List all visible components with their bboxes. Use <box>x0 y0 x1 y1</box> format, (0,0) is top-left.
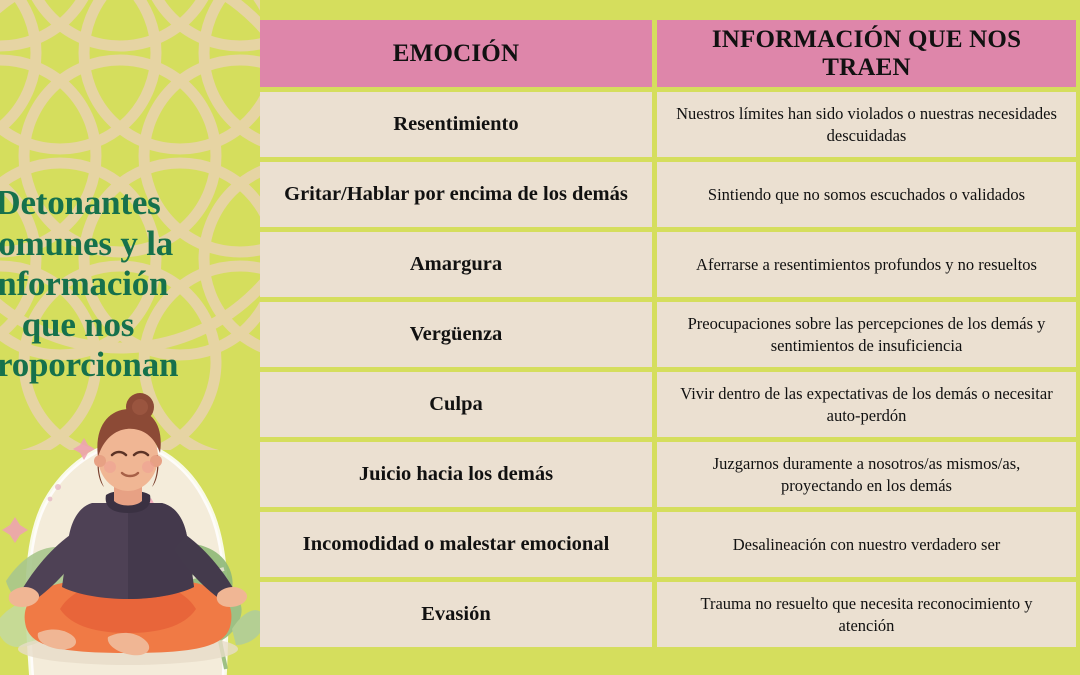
table-row: Resentimiento Nuestros límites han sido … <box>260 92 1076 157</box>
table-row: Juicio hacia los demás Juzgarnos duramen… <box>260 442 1076 507</box>
cell-emotion: Amargura <box>260 232 652 297</box>
cell-info: Preocupaciones sobre las percepciones de… <box>657 302 1076 367</box>
table-header-row: EMOCIÓN INFORMACIÓN QUE NOS TRAEN <box>260 20 1076 87</box>
cell-info: Juzgarnos duramente a nosotros/as mismos… <box>657 442 1076 507</box>
table-row: Amargura Aferrarse a resentimientos prof… <box>260 232 1076 297</box>
table-row: Evasión Trauma no resuelto que necesita … <box>260 582 1076 647</box>
meditating-woman-illustration <box>0 391 260 675</box>
table-row: Incomodidad o malestar emocional Desalin… <box>260 512 1076 577</box>
table-row: Gritar/Hablar por encima de los demás Si… <box>260 162 1076 227</box>
cell-emotion: Evasión <box>260 582 652 647</box>
left-decorative-panel: Detonantes comunes y la información que … <box>0 0 260 675</box>
slide-canvas: Detonantes comunes y la información que … <box>0 0 1080 675</box>
cell-emotion: Gritar/Hablar por encima de los demás <box>260 162 652 227</box>
cell-emotion: Incomodidad o malestar emocional <box>260 512 652 577</box>
cell-info: Aferrarse a resentimientos profundos y n… <box>657 232 1076 297</box>
cell-emotion: Culpa <box>260 372 652 437</box>
table-row: Vergüenza Preocupaciones sobre las perce… <box>260 302 1076 367</box>
emotions-table: EMOCIÓN INFORMACIÓN QUE NOS TRAEN Resent… <box>260 20 1076 647</box>
cell-info: Sintiendo que no somos escuchados o vali… <box>657 162 1076 227</box>
table-row: Culpa Vivir dentro de las expectativas d… <box>260 372 1076 437</box>
cell-info: Vivir dentro de las expectativas de los … <box>657 372 1076 437</box>
page-title: Detonantes comunes y la información que … <box>0 183 248 386</box>
cell-emotion: Juicio hacia los demás <box>260 442 652 507</box>
column-header-emocion: EMOCIÓN <box>260 20 652 87</box>
cell-info: Desalineación con nuestro verdadero ser <box>657 512 1076 577</box>
cell-info: Trauma no resuelto que necesita reconoci… <box>657 582 1076 647</box>
cell-emotion: Resentimiento <box>260 92 652 157</box>
cell-info: Nuestros límites han sido violados o nue… <box>657 92 1076 157</box>
column-header-informacion: INFORMACIÓN QUE NOS TRAEN <box>657 20 1076 87</box>
cell-emotion: Vergüenza <box>260 302 652 367</box>
